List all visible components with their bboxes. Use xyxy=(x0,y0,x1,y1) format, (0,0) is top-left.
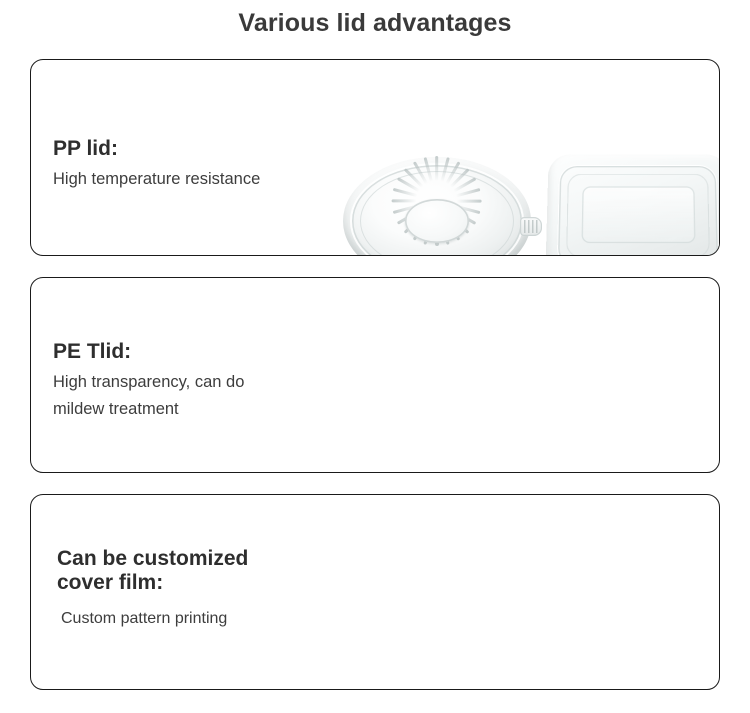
pp-round-pull-tab xyxy=(520,217,542,236)
pp-text-block: PP lid: High temperature resistance xyxy=(53,137,260,193)
panel-cover-film: Can be customized cover film: Custom pat… xyxy=(30,494,720,690)
pp-rib xyxy=(392,199,417,202)
pe-description: High transparency, can do mildew treatme… xyxy=(53,369,244,422)
rectangular-pp-lid-image xyxy=(547,153,720,256)
pp-heading: PP lid: xyxy=(53,137,260,161)
round-ribbed-pp-lid-image xyxy=(343,157,531,256)
panel-pp-lid: PP lid: High temperature resistance xyxy=(30,59,720,256)
pp-rib xyxy=(435,156,438,181)
pp-description: High temperature resistance xyxy=(53,166,260,193)
film-text-block: Can be customized cover film: Custom pat… xyxy=(57,547,248,632)
pp-round-center-hub xyxy=(405,199,469,243)
pe-heading: PE Tlid: xyxy=(53,340,244,364)
pp-rect-center-panel xyxy=(581,187,695,244)
film-description: Custom pattern printing xyxy=(57,601,248,632)
panel-pe-lid: PE Tlid: High transparency, can do milde… xyxy=(30,277,720,473)
pe-text-block: PE Tlid: High transparency, can do milde… xyxy=(53,340,244,423)
pp-rib xyxy=(457,199,482,202)
film-heading: Can be customized cover film: xyxy=(57,547,248,596)
page-title: Various lid advantages xyxy=(0,9,750,38)
